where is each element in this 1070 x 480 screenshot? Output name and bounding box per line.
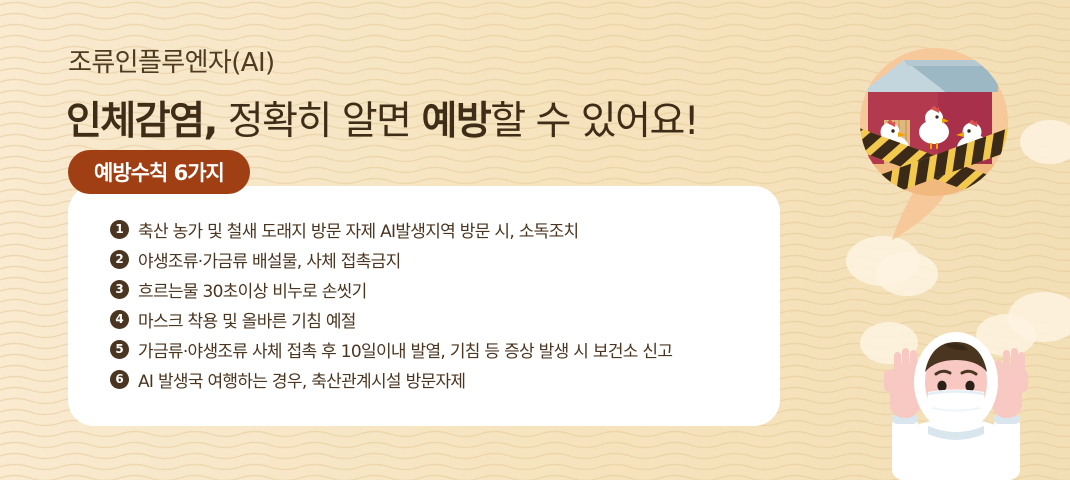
list-item: 2 야생조류·가금류 배설물, 사체 접촉금지 [110, 244, 1010, 274]
tip-label: 흐르는물 30초이상 비누로 손씻기 [138, 277, 367, 302]
tip-label: 야생조류·가금류 배설물, 사체 접촉금지 [138, 247, 401, 272]
badge-label: 예방수칙 6가지 [94, 157, 224, 187]
tip-number: 2 [110, 250, 129, 269]
kicker-text: 조류인플루엔자(AI) [68, 42, 275, 79]
status-badge: 예방수칙 6가지 [68, 150, 250, 194]
tip-number: 4 [110, 310, 129, 329]
tip-number: 5 [110, 340, 129, 359]
headline-emphasis-1: 인체감염, [66, 99, 217, 144]
tip-number: 1 [110, 220, 129, 239]
tip-label: 마스크 착용 및 올바른 기침 예절 [138, 307, 356, 332]
tip-label: AI 발생국 여행하는 경우, 축산관계시설 방문자제 [138, 367, 465, 392]
tip-label: 가금류·야생조류 사체 접촉 후 10일이내 발열, 기침 등 증상 발생 시 … [138, 337, 672, 362]
infographic-banner: 조류인플루엔자(AI) 인체감염, 정확히 알면 예방할 수 있어요! 예방수칙… [0, 0, 1070, 480]
tip-number: 6 [110, 370, 129, 389]
tip-label: 축산 농가 및 철새 도래지 방문 자제 AI발생지역 방문 시, 소독조치 [138, 217, 578, 242]
tip-number: 3 [110, 280, 129, 299]
list-item: 3 흐르는물 30초이상 비누로 손씻기 [110, 274, 1010, 304]
headline-emphasis-2: 예방 [421, 99, 490, 144]
person-illustration [856, 330, 1056, 480]
headline-normal-2: 할 수 있어요! [490, 99, 698, 144]
barn-illustration [846, 44, 1026, 244]
page-title: 인체감염, 정확히 알면 예방할 수 있어요! [66, 90, 698, 146]
headline-normal-1: 정확히 알면 [217, 99, 422, 144]
